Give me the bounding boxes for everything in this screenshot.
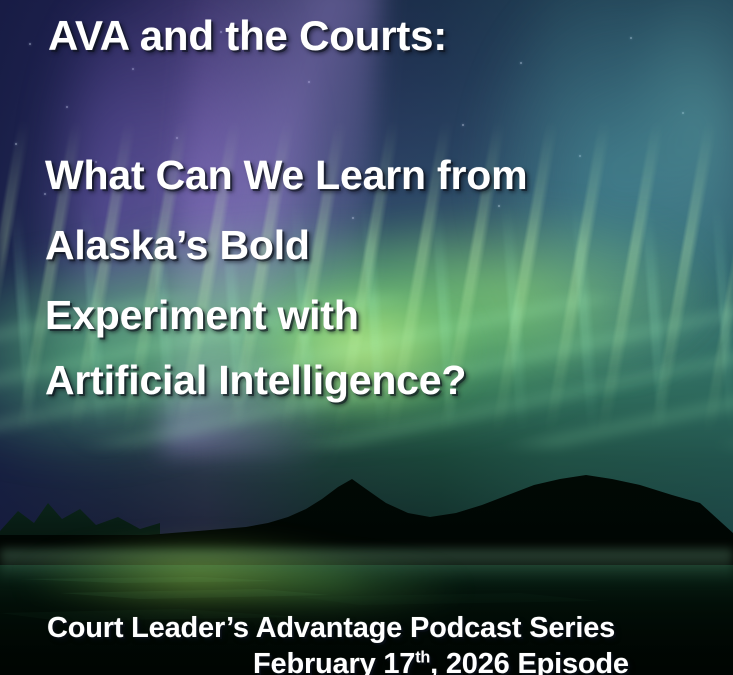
poster-subtitle-line-1: What Can We Learn from bbox=[45, 152, 527, 199]
poster-subtitle-line-4: Artificial Intelligence? bbox=[45, 357, 466, 404]
episode-date-prefix: February 17 bbox=[253, 648, 415, 675]
episode-date-ordinal: th bbox=[415, 648, 430, 666]
poster-subtitle-line-3: Experiment with bbox=[45, 292, 359, 339]
poster-title: AVA and the Courts: bbox=[48, 12, 447, 60]
episode-date-suffix: , 2026 Episode bbox=[430, 648, 629, 675]
podcast-series-name: Court Leader’s Advantage Podcast Series bbox=[47, 612, 615, 645]
poster-subtitle-line-2: Alaska’s Bold bbox=[45, 222, 310, 269]
text-overlay: AVA and the Courts: What Can We Learn fr… bbox=[0, 0, 733, 675]
episode-date: February 17th, 2026 Episode bbox=[253, 648, 629, 675]
podcast-cover-poster: AVA and the Courts: What Can We Learn fr… bbox=[0, 0, 733, 675]
